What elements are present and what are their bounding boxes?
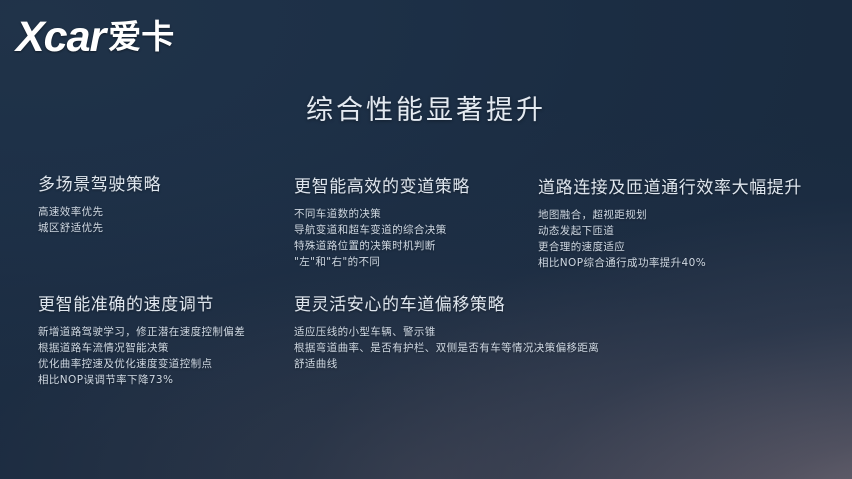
list-item: 动态发起下匝道	[538, 223, 802, 239]
list-item: 优化曲率控速及优化速度变道控制点	[38, 356, 245, 372]
block-heading: 更智能高效的变道策略	[294, 172, 470, 197]
list-item: 新增道路驾驶学习，修正潜在速度控制偏差	[38, 324, 245, 340]
block-item-list: 新增道路驾驶学习，修正潜在速度控制偏差 根据道路车流情况智能决策 优化曲率控速及…	[38, 324, 245, 388]
list-item: 导航变道和超车变道的综合决策	[294, 222, 470, 238]
block-item-list: 地图融合，超视距规划 动态发起下匝道 更合理的速度适应 相比NOP综合通行成功率…	[538, 207, 802, 271]
list-item: 舒适曲线	[294, 356, 599, 372]
content-block-lane-change-strategy: 更智能高效的变道策略 不同车道数的决策 导航变道和超车变道的综合决策 特殊道路位…	[294, 172, 470, 270]
list-item: 根据道路车流情况智能决策	[38, 340, 245, 356]
list-item: 相比NOP综合通行成功率提升40%	[538, 255, 802, 271]
list-item: 高速效率优先	[38, 204, 161, 220]
presentation-slide: Xcar 爱卡 综合性能显著提升 多场景驾驶策略 高速效率优先 城区舒适优先 更…	[0, 0, 852, 479]
block-heading: 多场景驾驶策略	[38, 170, 161, 195]
block-heading: 道路连接及匝道通行效率大幅提升	[538, 173, 802, 198]
content-block-road-connection-efficiency: 道路连接及匝道通行效率大幅提升 地图融合，超视距规划 动态发起下匝道 更合理的速…	[538, 173, 802, 271]
content-block-lane-offset-strategy: 更灵活安心的车道偏移策略 适应压线的小型车辆、警示锥 根据弯道曲率、是否有护栏、…	[294, 290, 599, 372]
list-item: 相比NOP误调节率下降73%	[38, 372, 245, 388]
block-heading: 更智能准确的速度调节	[38, 290, 245, 315]
slide-title: 综合性能显著提升	[0, 88, 852, 127]
xcar-logo: Xcar 爱卡	[16, 16, 174, 59]
list-item: 城区舒适优先	[38, 220, 161, 236]
list-item: "左"和"右"的不同	[294, 254, 470, 270]
list-item: 根据弯道曲率、是否有护栏、双侧是否有车等情况决策偏移距离	[294, 340, 599, 356]
logo-latin-text: Xcar	[16, 16, 105, 59]
list-item: 更合理的速度适应	[538, 239, 802, 255]
block-item-list: 不同车道数的决策 导航变道和超车变道的综合决策 特殊道路位置的决策时机判断 "左…	[294, 206, 470, 270]
logo-chinese-text: 爱卡	[108, 20, 174, 53]
list-item: 适应压线的小型车辆、警示锥	[294, 324, 599, 340]
list-item: 不同车道数的决策	[294, 206, 470, 222]
list-item: 特殊道路位置的决策时机判断	[294, 238, 470, 254]
block-item-list: 适应压线的小型车辆、警示锥 根据弯道曲率、是否有护栏、双侧是否有车等情况决策偏移…	[294, 324, 599, 372]
content-block-driving-strategy: 多场景驾驶策略 高速效率优先 城区舒适优先	[38, 170, 161, 236]
list-item: 地图融合，超视距规划	[538, 207, 802, 223]
content-block-speed-adjustment: 更智能准确的速度调节 新增道路驾驶学习，修正潜在速度控制偏差 根据道路车流情况智…	[38, 290, 245, 388]
block-item-list: 高速效率优先 城区舒适优先	[38, 204, 161, 236]
block-heading: 更灵活安心的车道偏移策略	[294, 290, 599, 315]
